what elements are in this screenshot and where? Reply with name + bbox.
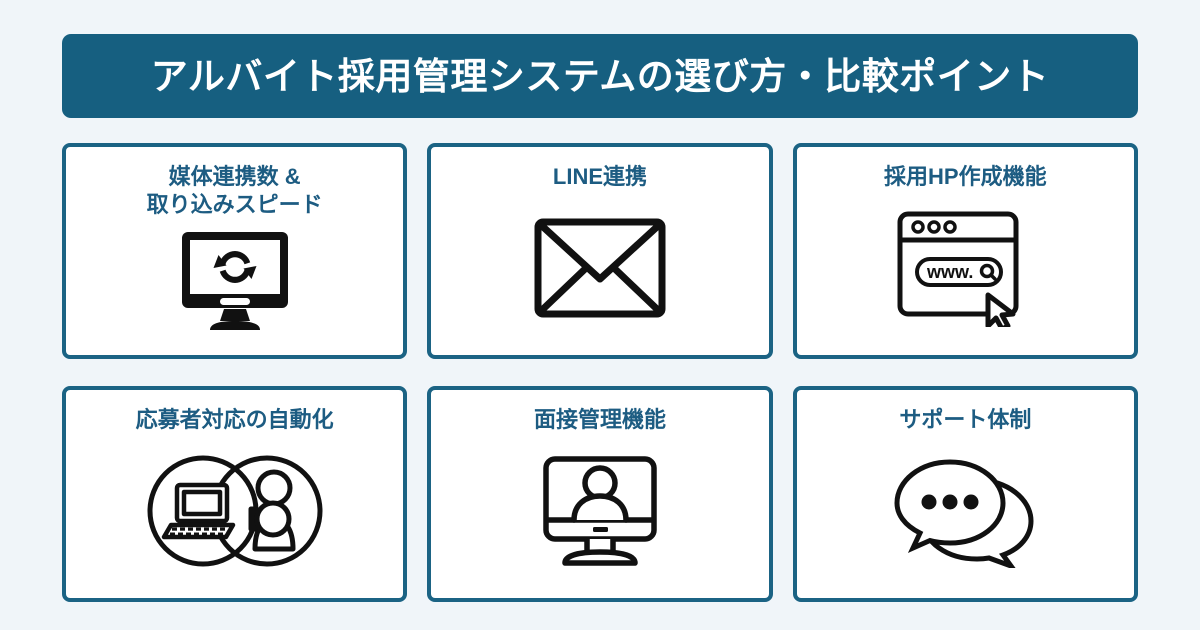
card-applicant-automation[interactable]: 応募者対応の自動化 [62,386,407,602]
laptop-person-venn-icon [76,434,393,588]
monitor-person-icon [441,434,758,588]
browser-url-label: www. [926,262,973,282]
card-title: LINE連携 [553,163,647,191]
header-banner: アルバイト採用管理システムの選び方・比較ポイント [62,34,1138,118]
card-grid: 媒体連携数 & 取り込みスピード [62,143,1138,602]
browser-window-cursor-icon: www. [807,191,1124,345]
card-media-integration[interactable]: 媒体連携数 & 取り込みスピード [62,143,407,359]
card-support-system[interactable]: サポート体制 [793,386,1138,602]
speech-bubbles-icon [807,434,1124,588]
infographic-root: アルバイト採用管理システムの選び方・比較ポイント 媒体連携数 & 取り込みスピー… [0,0,1200,630]
card-title: 媒体連携数 & 取り込みスピード [147,163,323,219]
card-interview-management[interactable]: 面接管理機能 [427,386,772,602]
card-title: サポート体制 [899,406,1031,434]
monitor-sync-icon [76,219,393,345]
card-title: 応募者対応の自動化 [136,406,334,434]
page-title: アルバイト採用管理システムの選び方・比較ポイント [151,58,1050,95]
card-line-integration[interactable]: LINE連携 [427,143,772,359]
envelope-icon [441,191,758,345]
card-recruit-homepage[interactable]: 採用HP作成機能 www. [793,143,1138,359]
card-title: 面接管理機能 [534,406,666,434]
card-title: 採用HP作成機能 [884,163,1047,191]
